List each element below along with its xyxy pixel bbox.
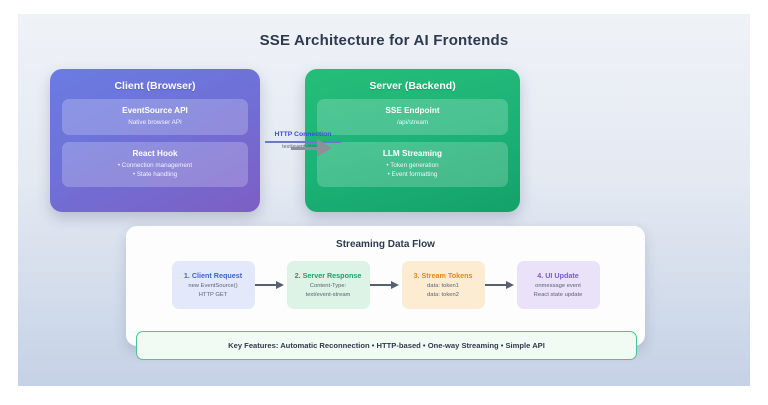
card-line: /api/stream [321, 118, 504, 127]
step-title: 1. Client Request [184, 271, 242, 280]
key-features-banner: Key Features: Automatic Reconnection • H… [136, 331, 637, 360]
card-line: • Connection management [66, 161, 244, 170]
card-line: • Token generation [321, 161, 504, 170]
flow-arrow-icon-1 [255, 280, 287, 290]
flow-steps-row: 1. Client Request new EventSource() HTTP… [126, 261, 645, 309]
flow-step-server-response: 2. Server Response Content-Type: text/ev… [287, 261, 370, 309]
step-line: onmessage event [535, 282, 581, 291]
streaming-data-flow-card: Streaming Data Flow 1. Client Request ne… [126, 226, 645, 346]
step-line: new EventSource() [188, 282, 237, 291]
step-line: data: token1 [427, 282, 459, 291]
client-box-title: Client (Browser) [50, 69, 260, 92]
card-title: EventSource API [66, 106, 244, 115]
step-line: Content-Type: [310, 282, 346, 291]
step-line: HTTP GET [199, 291, 228, 300]
flow-section-title: Streaming Data Flow [126, 226, 645, 250]
step-line: data: token2 [427, 291, 459, 300]
client-architecture-box: Client (Browser) EventSource API Native … [50, 69, 260, 212]
flow-arrow-icon-2 [370, 280, 402, 290]
right-arrow-icon [317, 139, 332, 157]
client-card-eventsource-api: EventSource API Native browser API [62, 99, 248, 135]
flow-arrow-icon-3 [485, 280, 517, 290]
card-line: • State handling [66, 170, 244, 179]
step-title: 3. Stream Tokens [414, 271, 473, 280]
card-title: React Hook [66, 149, 244, 158]
page-title: SSE Architecture for AI Frontends [18, 32, 750, 49]
diagram-canvas: SSE Architecture for AI Frontends Client… [0, 0, 768, 405]
step-title: 2. Server Response [295, 271, 362, 280]
server-card-sse-endpoint: SSE Endpoint /api/stream [317, 99, 508, 135]
step-title: 4. UI Update [537, 271, 579, 280]
card-title: LLM Streaming [321, 149, 504, 158]
server-box-title: Server (Backend) [305, 69, 520, 92]
flow-step-ui-update: 4. UI Update onmessage event React state… [517, 261, 600, 309]
step-line: React state update [534, 291, 583, 300]
connection-group: HTTP Connection text/event-stream [261, 127, 345, 161]
card-title: SSE Endpoint [321, 106, 504, 115]
step-line: text/event-stream [306, 291, 351, 300]
card-line: • Event formatting [321, 170, 504, 179]
flow-step-client-request: 1. Client Request new EventSource() HTTP… [172, 261, 255, 309]
client-card-react-hook: React Hook • Connection management • Sta… [62, 142, 248, 187]
flow-step-stream-tokens: 3. Stream Tokens data: token1 data: toke… [402, 261, 485, 309]
page-background-card: SSE Architecture for AI Frontends Client… [18, 14, 750, 386]
card-line: Native browser API [66, 118, 244, 127]
key-features-text: Key Features: Automatic Reconnection • H… [228, 341, 545, 350]
connection-label: HTTP Connection [261, 131, 345, 138]
server-card-llm-streaming: LLM Streaming • Token generation • Event… [317, 142, 508, 187]
